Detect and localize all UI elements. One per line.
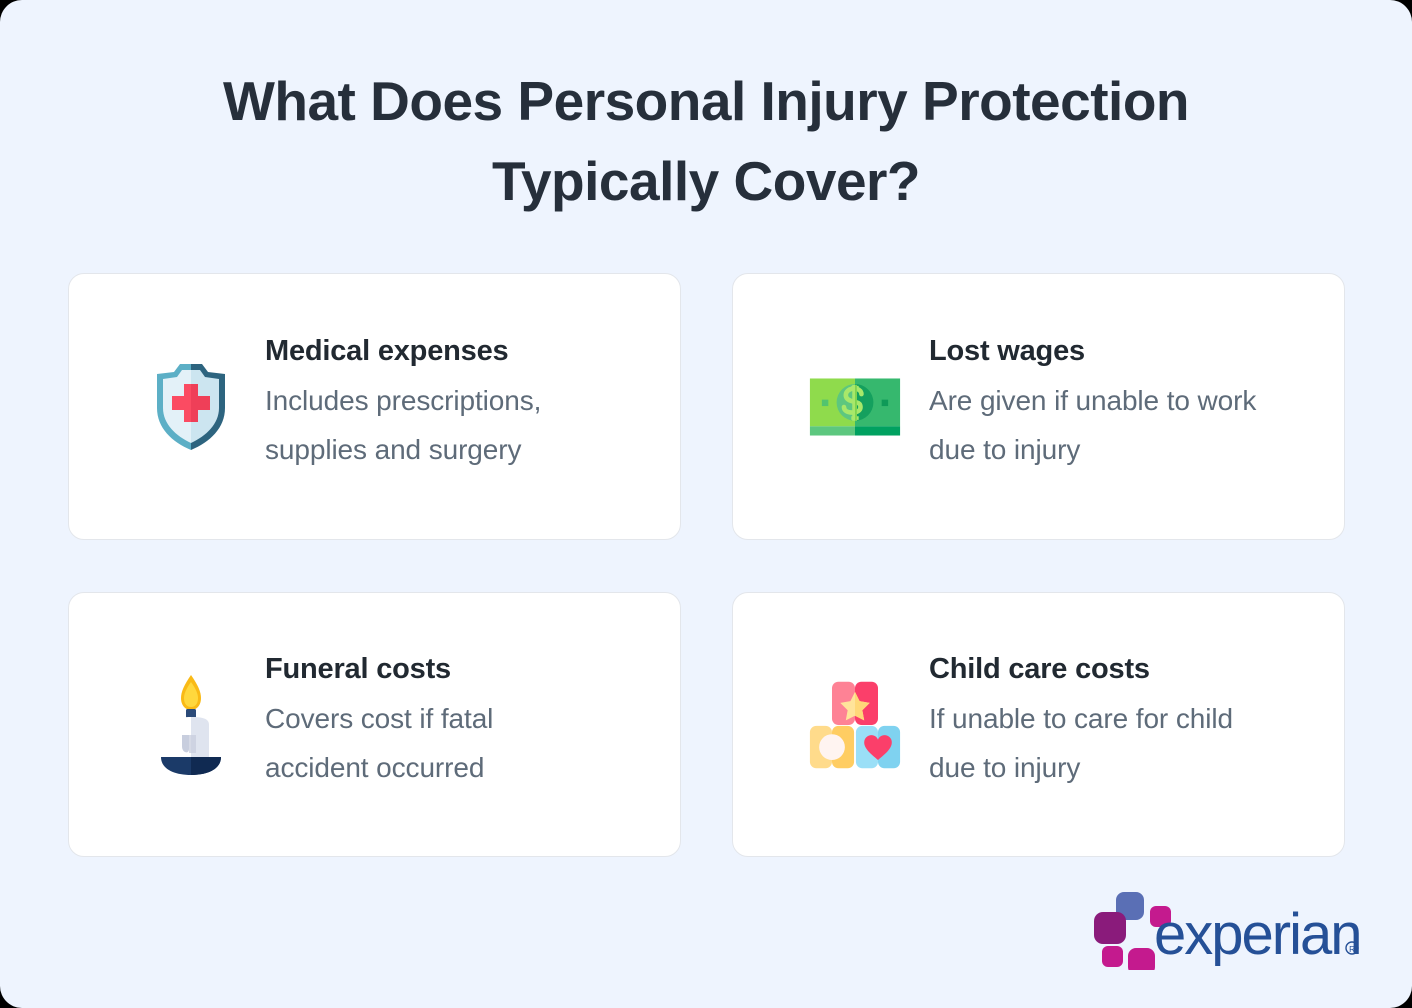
toy-blocks-icon <box>809 673 901 777</box>
card-title: Child care costs <box>929 651 1304 687</box>
svg-text:experian: experian <box>1154 902 1360 967</box>
card-title: Medical expenses <box>265 333 640 369</box>
infographic-page: What Does Personal Injury Protection Typ… <box>0 0 1412 1008</box>
shield-medical-cross-icon <box>145 355 237 459</box>
card-medical-expenses: Medical expenses Includes prescriptions,… <box>68 273 681 540</box>
card-description: Covers cost if fatal accident occurred <box>265 695 595 791</box>
card-title: Lost wages <box>929 333 1304 369</box>
coverage-card-grid: Medical expenses Includes prescriptions,… <box>68 273 1344 857</box>
card-title: Funeral costs <box>265 651 640 687</box>
card-text-block: Child care costs If unable to care for c… <box>929 651 1304 798</box>
card-lost-wages: Lost wages Are given if unable to work d… <box>732 273 1345 540</box>
card-description: Are given if unable to work due to injur… <box>929 377 1259 473</box>
card-text-block: Lost wages Are given if unable to work d… <box>929 333 1304 480</box>
money-bill-dollar-icon <box>809 355 901 459</box>
card-description: Includes prescriptions, supplies and sur… <box>265 377 595 473</box>
card-text-block: Funeral costs Covers cost if fatal accid… <box>265 651 640 798</box>
page-title: What Does Personal Injury Protection Typ… <box>0 62 1412 222</box>
card-text-block: Medical expenses Includes prescriptions,… <box>265 333 640 480</box>
svg-text:R: R <box>1349 945 1355 954</box>
experian-logo: experian R experian ® <box>1094 890 1364 970</box>
card-child-care-costs: Child care costs If unable to care for c… <box>732 592 1345 857</box>
card-funeral-costs: Funeral costs Covers cost if fatal accid… <box>68 592 681 857</box>
card-description: If unable to care for child due to injur… <box>929 695 1259 791</box>
candle-icon <box>145 673 237 777</box>
